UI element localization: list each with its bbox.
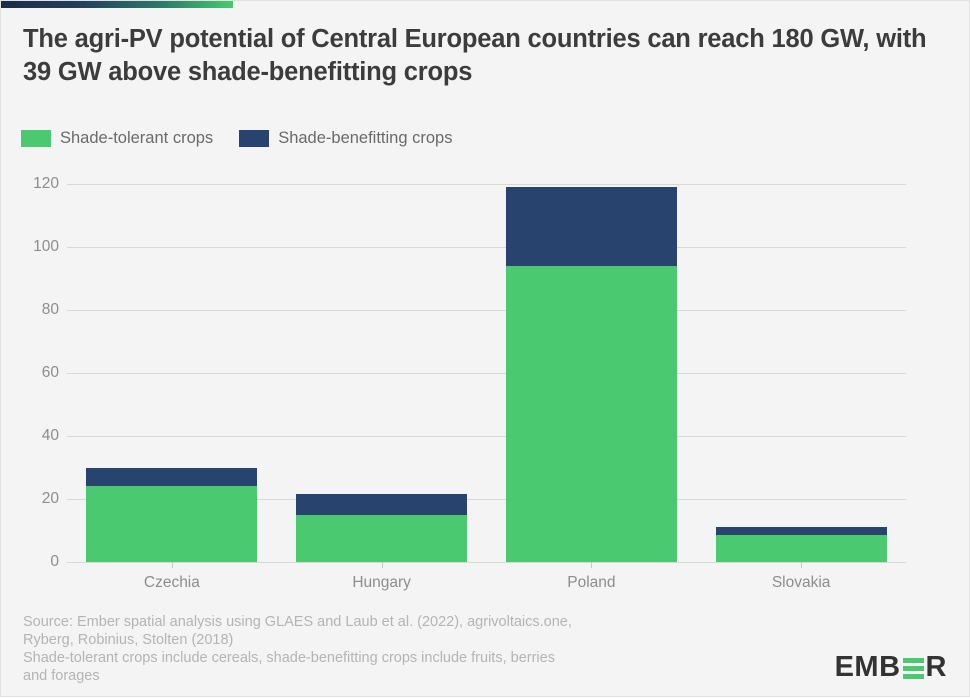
logo-text-part2: R	[926, 651, 947, 684]
bar-segment-shade-benefitting[interactable]	[716, 527, 887, 535]
square-swatch-navy-icon	[239, 130, 269, 147]
bar-segment-shade-benefitting[interactable]	[86, 468, 257, 487]
bar-segment-shade-benefitting[interactable]	[296, 494, 467, 514]
gridline	[67, 436, 906, 437]
x-axis-tick	[591, 562, 592, 568]
ember-logo: EMB R	[835, 651, 947, 684]
source-note: Source: Ember spatial analysis using GLA…	[23, 613, 723, 685]
gridline	[67, 247, 906, 248]
gridline	[67, 373, 906, 374]
bar-segment-shade-tolerant[interactable]	[86, 486, 257, 562]
bar-segment-shade-benefitting[interactable]	[506, 187, 677, 266]
logo-text-part1: EMB	[835, 651, 901, 684]
source-line-3: Shade-tolerant crops include cereals, sh…	[23, 649, 723, 667]
y-axis-tick-label: 40	[13, 427, 59, 445]
source-line-2: Ryberg, Robinius, Stolten (2018)	[23, 631, 723, 649]
chart-legend: Shade-tolerant crops Shade-benefitting c…	[21, 129, 452, 148]
chart-figure: The agri-PV potential of Central Europea…	[0, 0, 970, 697]
bar-segment-shade-tolerant[interactable]	[296, 515, 467, 562]
legend-item-shade-benefitting[interactable]: Shade-benefitting crops	[239, 129, 452, 148]
y-axis-tick-label: 80	[13, 301, 59, 319]
bar-segment-shade-tolerant[interactable]	[716, 535, 887, 562]
bar-group-slovakia[interactable]	[716, 527, 887, 562]
gridline	[67, 499, 906, 500]
x-axis-label-slovakia: Slovakia	[772, 574, 831, 592]
gridline	[67, 562, 906, 563]
gridline	[67, 184, 906, 185]
legend-item-shade-tolerant[interactable]: Shade-tolerant crops	[21, 129, 213, 148]
bar-group-hungary[interactable]	[296, 494, 467, 562]
legend-label-shade-benefitting: Shade-benefitting crops	[278, 129, 452, 148]
y-axis-tick-label: 100	[13, 238, 59, 256]
logo-e-bars-icon	[903, 658, 924, 679]
x-axis-label-hungary: Hungary	[352, 574, 411, 592]
gridline	[67, 310, 906, 311]
square-swatch-green-icon	[21, 130, 51, 147]
y-axis-tick-label: 120	[13, 175, 59, 193]
bar-series	[1, 1, 970, 698]
x-axis-tick	[172, 562, 173, 568]
y-axis-tick-label: 20	[13, 490, 59, 508]
bar-group-poland[interactable]	[506, 187, 677, 562]
page-title: The agri-PV potential of Central Europea…	[23, 23, 928, 89]
source-line-4: and forages	[23, 667, 723, 685]
x-axis-tick	[801, 562, 802, 568]
brand-accent-bar	[1, 1, 233, 8]
plot-area: 020406080100120 CzechiaHungaryPolandSlov…	[1, 1, 970, 698]
x-axis-label-czechia: Czechia	[144, 574, 200, 592]
x-axis-tick	[382, 562, 383, 568]
bar-group-czechia[interactable]	[86, 468, 257, 563]
x-axis-label-poland: Poland	[567, 574, 615, 592]
source-line-1: Source: Ember spatial analysis using GLA…	[23, 613, 723, 631]
legend-label-shade-tolerant: Shade-tolerant crops	[60, 129, 213, 148]
bar-segment-shade-tolerant[interactable]	[506, 266, 677, 562]
y-axis-tick-label: 0	[13, 553, 59, 571]
y-axis-tick-label: 60	[13, 364, 59, 382]
